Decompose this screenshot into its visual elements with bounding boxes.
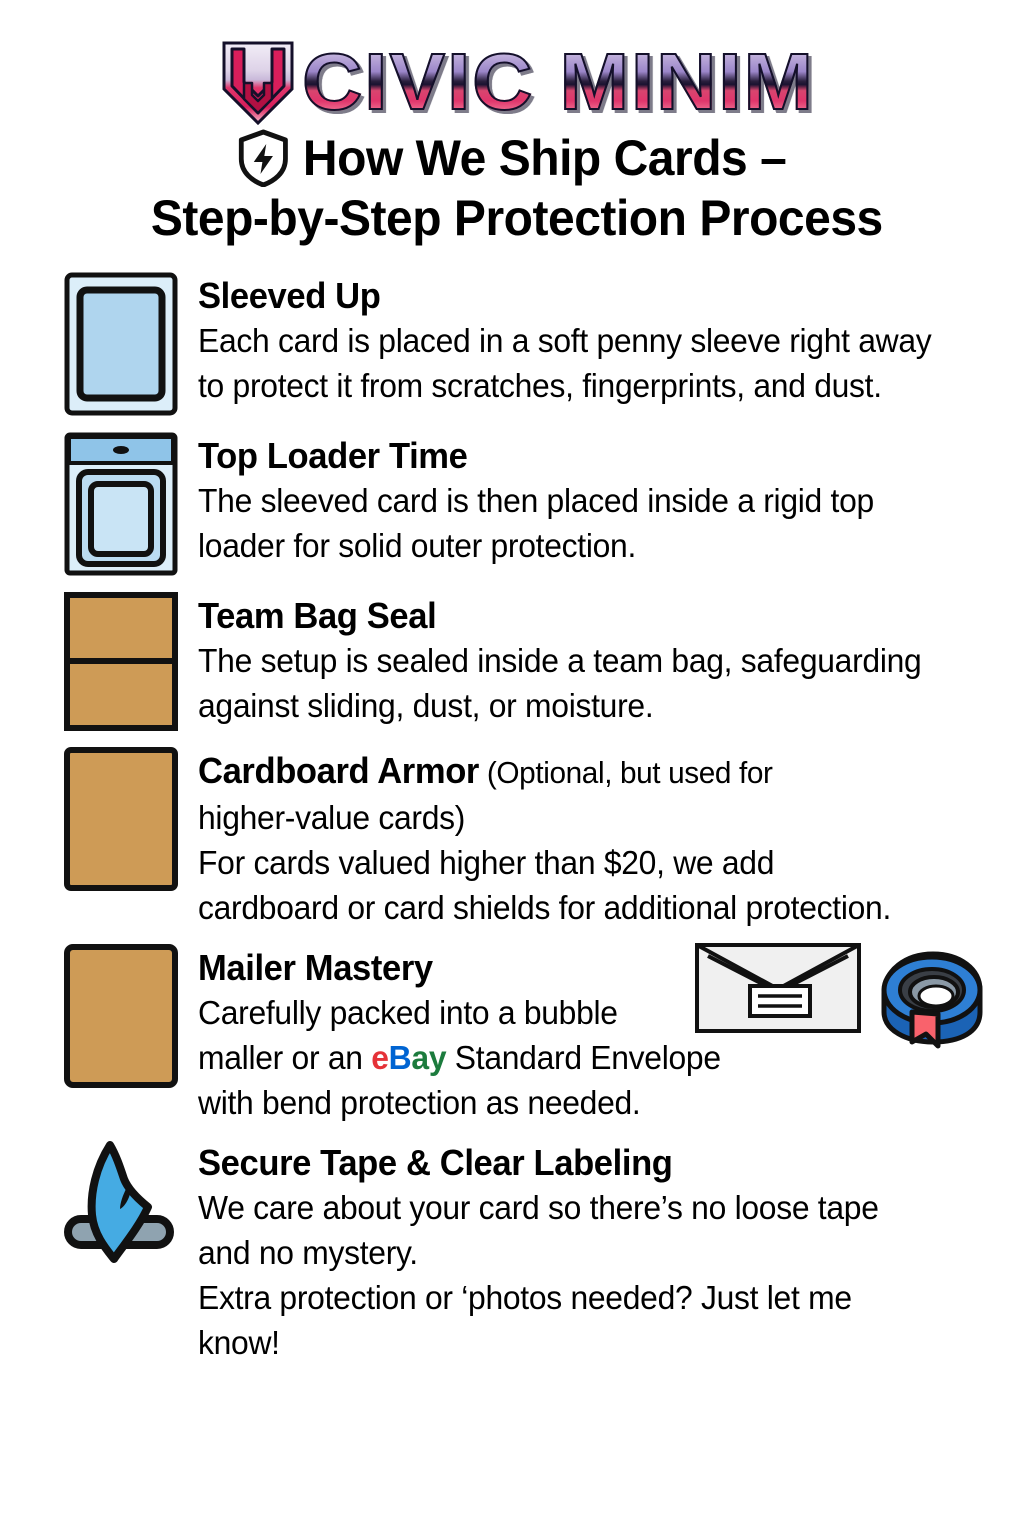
- mailer-icon: [62, 942, 180, 1090]
- desc-line: The setup is sealed inside a team bag, s…: [198, 638, 982, 683]
- step-title-text: Secure Tape & Clear Labeling: [198, 1142, 673, 1183]
- step-title-text: Top Loader Time: [198, 435, 467, 476]
- desc-line: higher-value cards): [198, 795, 982, 840]
- desc-line: Extra protection or ‘photos needed? Just…: [198, 1275, 982, 1320]
- step-description: The sleeved card is then placed inside a…: [198, 478, 982, 568]
- step-description: We care about your card so there’s no lo…: [198, 1185, 982, 1365]
- desc-text-after: Standard Envelope: [446, 1039, 721, 1076]
- step-description: higher-value cards) For cards valued hig…: [198, 795, 982, 930]
- infographic-page: CIVIC MINIM How We Ship Cards – Step-by-…: [0, 0, 1024, 1536]
- tape-roll-icon: [876, 942, 986, 1050]
- desc-line: against sliding, dust, or moisture.: [198, 683, 982, 728]
- step-title-note: (Optional, but used for: [479, 755, 773, 790]
- desc-line: Each card is placed in a soft penny slee…: [198, 318, 982, 363]
- step-top-loader: Top Loader Time The sleeved card is then…: [62, 430, 1010, 578]
- cardboard-armor-icon: [62, 745, 180, 893]
- desc-text-before: maller or an: [198, 1039, 371, 1076]
- step-cardboard-armor: Cardboard Armor (Optional, but used for …: [62, 745, 1010, 930]
- page-title: How We Ship Cards – Step-by-Step Protect…: [0, 128, 1024, 248]
- step-secure-tape: Secure Tape & Clear Labeling We care abo…: [62, 1137, 1010, 1365]
- desc-line: cardboard or card shields for additional…: [198, 885, 982, 930]
- desc-line: We care about your card so there’s no lo…: [198, 1185, 982, 1230]
- desc-line: The sleeved card is then placed inside a…: [198, 478, 982, 523]
- step-mailer-mastery: Mailer Mastery Carefully packed into a b…: [62, 942, 1010, 1125]
- shield-bolt-icon: [238, 129, 290, 187]
- brand-wordmark: CIVIC MINIM: [303, 39, 816, 125]
- desc-line: know!: [198, 1320, 982, 1365]
- step-sleeved-up: Sleeved Up Each card is placed in a soft…: [62, 270, 1010, 418]
- step-title: Top Loader Time: [198, 434, 978, 478]
- step-title-text: Cardboard Armor: [198, 750, 479, 791]
- step-title-text: Mailer Mastery: [198, 947, 433, 988]
- step-title: Team Bag Seal: [198, 594, 978, 638]
- step-title-text: Sleeved Up: [198, 275, 380, 316]
- secure-tape-pen-icon: [62, 1137, 180, 1269]
- mailer-artwork: [694, 942, 986, 1050]
- step-title: Secure Tape & Clear Labeling: [198, 1141, 978, 1185]
- ebay-logo-text: eBay: [371, 1039, 446, 1076]
- team-bag-icon: [62, 590, 180, 733]
- top-loader-icon: [62, 430, 180, 578]
- penny-sleeve-icon: [62, 270, 180, 418]
- step-description: Each card is placed in a soft penny slee…: [198, 318, 982, 408]
- steps-list: Sleeved Up Each card is placed in a soft…: [0, 270, 1024, 1365]
- title-line-2: Step-by-Step Protection Process: [151, 188, 883, 248]
- step-team-bag: Team Bag Seal The setup is sealed inside…: [62, 590, 1010, 733]
- desc-line: with bend protection as needed.: [198, 1080, 816, 1125]
- desc-line: and no mystery.: [198, 1230, 982, 1275]
- step-title-text: Team Bag Seal: [198, 595, 436, 636]
- step-description: The setup is sealed inside a team bag, s…: [198, 638, 982, 728]
- brand-header: CIVIC MINIM: [0, 0, 1024, 118]
- envelope-icon: [694, 942, 862, 1034]
- title-line-1: How We Ship Cards –: [303, 128, 786, 188]
- desc-line: to protect it from scratches, fingerprin…: [198, 363, 982, 408]
- civic-minim-shield-m-logo: [218, 39, 298, 125]
- step-title: Cardboard Armor (Optional, but used for: [198, 749, 978, 795]
- desc-line: loader for solid outer protection.: [198, 523, 982, 568]
- step-title: Sleeved Up: [198, 274, 978, 318]
- desc-line: For cards valued higher than $20, we add: [198, 840, 982, 885]
